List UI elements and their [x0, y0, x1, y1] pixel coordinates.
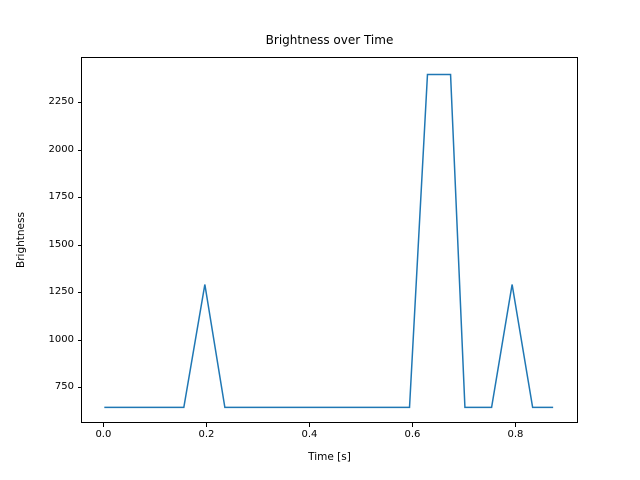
y-axis-tick-mark: [78, 197, 82, 198]
x-axis-tick-mark: [515, 423, 516, 427]
y-axis-tick-labels: 750100012501500175020002250: [0, 0, 74, 480]
x-axis-tick-label: 0.8: [507, 430, 523, 440]
y-axis-tick-label: 750: [55, 382, 74, 392]
chart-title: Brightness over Time: [81, 32, 578, 48]
x-axis-label: Time [s]: [81, 451, 578, 463]
y-axis-tick-mark: [78, 150, 82, 151]
y-axis-label: Brightness: [14, 57, 28, 423]
y-axis-tick-mark: [78, 387, 82, 388]
y-axis-tick-label: 2000: [49, 145, 74, 155]
x-axis-tick-mark: [206, 423, 207, 427]
x-axis-tick-label: 0.4: [301, 430, 317, 440]
brightness-line-series: [104, 74, 553, 407]
x-axis-tick-mark: [309, 423, 310, 427]
x-axis-tick-mark: [103, 423, 104, 427]
x-axis-tick-mark: [412, 423, 413, 427]
y-axis-tick-label: 2250: [49, 97, 74, 107]
y-axis-tick-mark: [78, 102, 82, 103]
y-axis-tick-label: 1750: [49, 192, 74, 202]
x-axis-tick-label: 0.6: [404, 430, 420, 440]
y-axis-tick-label: 1500: [49, 240, 74, 250]
y-axis-tick-mark: [78, 340, 82, 341]
y-axis-tick-label: 1250: [49, 287, 74, 297]
y-axis-tick-mark: [78, 292, 82, 293]
y-axis-tick-mark: [78, 245, 82, 246]
y-axis-tick-label: 1000: [49, 335, 74, 345]
data-line-svg: [82, 58, 577, 422]
plot-area: [81, 57, 578, 423]
x-axis-tick-label: 0.0: [95, 430, 111, 440]
matplotlib-figure: Brightness over Time 7501000125015001750…: [0, 0, 640, 480]
x-axis-tick-label: 0.2: [198, 430, 214, 440]
